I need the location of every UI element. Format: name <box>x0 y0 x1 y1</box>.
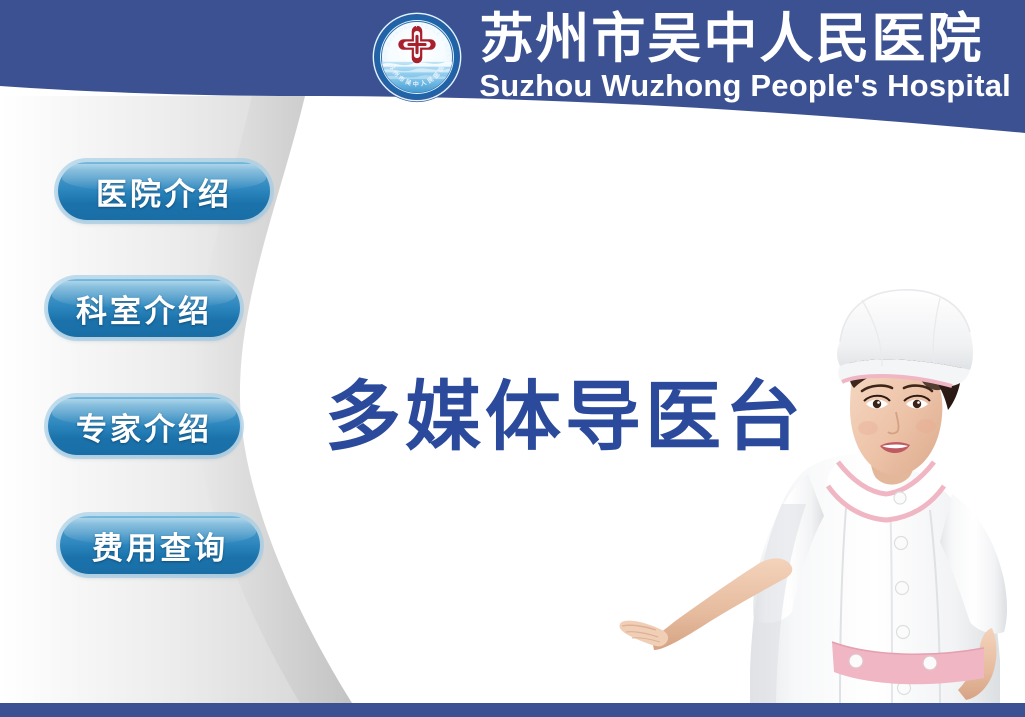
sidebar-item-label: 专家介绍 <box>76 404 212 449</box>
sidebar-item-label: 费用查询 <box>92 523 228 568</box>
nurse-photo <box>600 280 1025 703</box>
sidebar-item-hospital-intro[interactable]: 医院介绍 <box>58 162 270 220</box>
brand-block: SUZHOU WUZHONG PEOPLE'S HOSPITAL 苏州市吴中人民… <box>369 8 1011 104</box>
hospital-name-en: Suzhou Wuzhong People's Hospital <box>479 70 1011 101</box>
nurse-illustration <box>600 280 1025 703</box>
header: SUZHOU WUZHONG PEOPLE'S HOSPITAL 苏州市吴中人民… <box>0 0 1025 112</box>
sidebar-item-label: 科室介绍 <box>76 286 212 331</box>
footer-bar <box>0 703 1025 717</box>
sidebar-item-department-intro[interactable]: 科室介绍 <box>48 279 240 337</box>
sidebar-item-fee-inquiry[interactable]: 费用查询 <box>60 516 260 574</box>
sidebar-item-expert-intro[interactable]: 专家介绍 <box>48 397 240 455</box>
kiosk-screen: SUZHOU WUZHONG PEOPLE'S HOSPITAL 苏州市吴中人民… <box>0 0 1025 717</box>
nurse-cap <box>837 290 973 386</box>
hospital-name-cn: 苏州市吴中人民医院 <box>479 12 983 66</box>
hospital-seal-logo: SUZHOU WUZHONG PEOPLE'S HOSPITAL 苏州市吴中人民… <box>369 9 465 105</box>
sidebar-item-label: 医院介绍 <box>96 169 232 214</box>
page-title: 多媒体导医台 <box>325 355 805 465</box>
hospital-seal-logo-svg: SUZHOU WUZHONG PEOPLE'S HOSPITAL 苏州市吴中人民… <box>369 9 465 105</box>
sidebar-nav: 医院介绍 科室介绍 专家介绍 费用查询 <box>0 112 300 702</box>
brand-text: 苏州市吴中人民医院 Suzhou Wuzhong People's Hospit… <box>479 12 1011 101</box>
